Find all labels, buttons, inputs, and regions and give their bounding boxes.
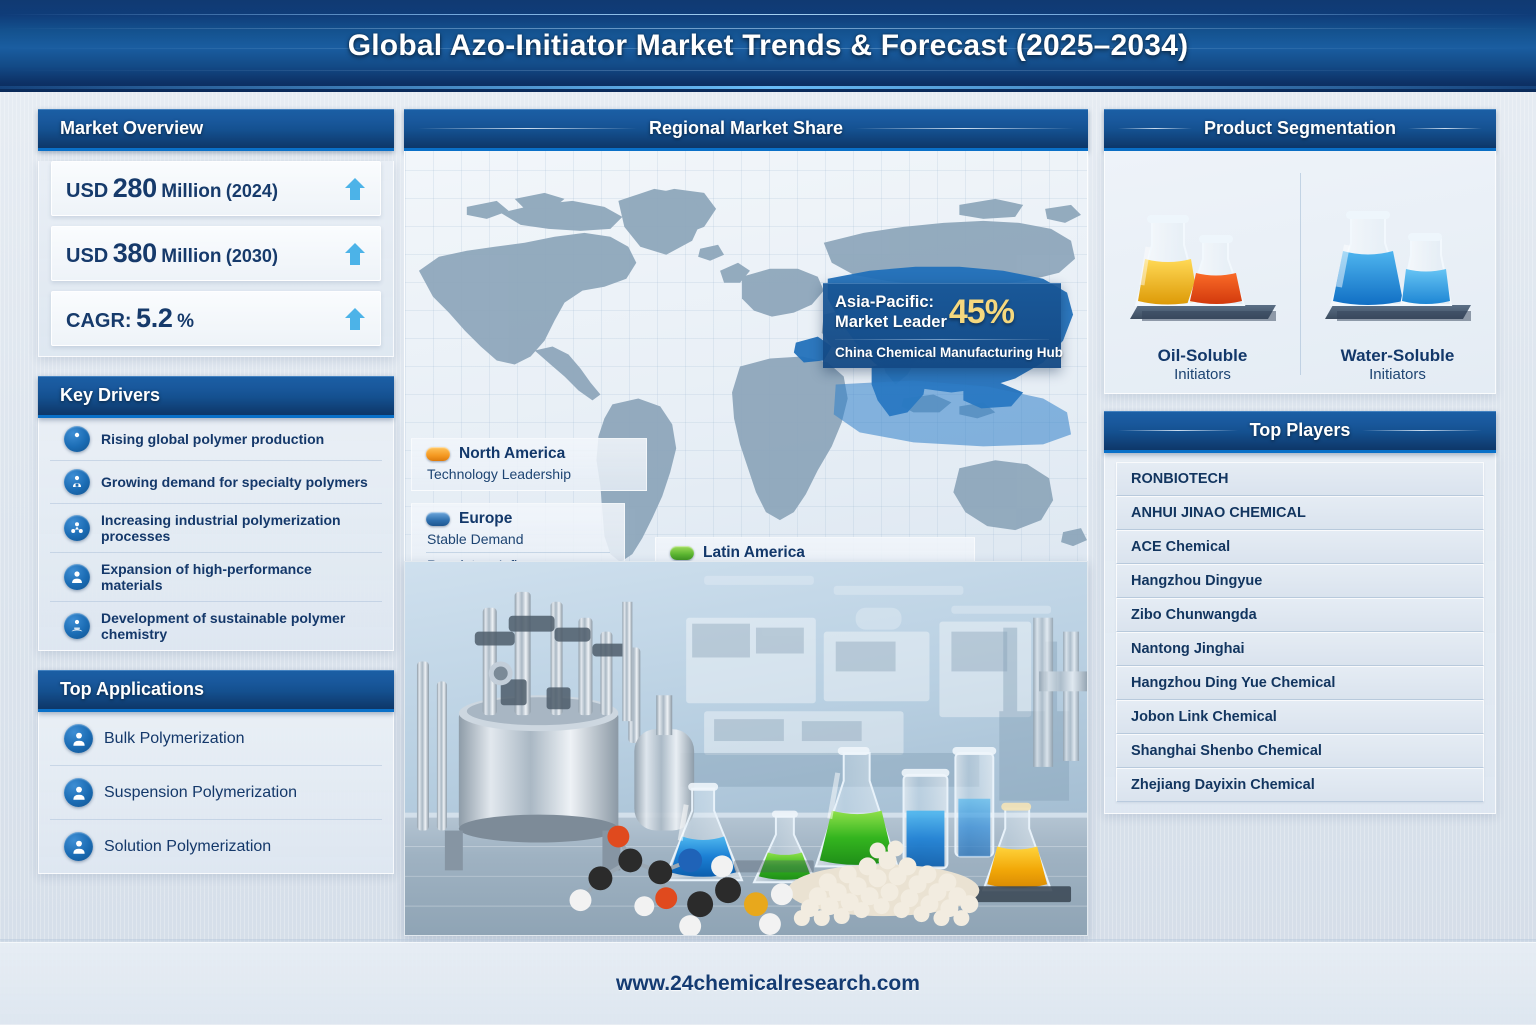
list-item-label: Growing demand for specialty polymers bbox=[101, 474, 368, 490]
panel-header-market-overview: Market Overview bbox=[38, 109, 394, 151]
list-item[interactable]: Bulk Polymerization bbox=[50, 712, 382, 766]
list-item[interactable]: Suspension Polymerization bbox=[50, 766, 382, 820]
world-map: Asia-Pacific: Market Leader 45% China Ch… bbox=[404, 151, 1088, 592]
footer-url[interactable]: www.24chemicalresearch.com bbox=[0, 943, 1536, 1025]
right-column: Product Segmentation bbox=[1104, 109, 1496, 814]
list-item-label: Bulk Polymerization bbox=[104, 730, 245, 748]
segment-name: Water-Soluble bbox=[1341, 346, 1455, 366]
asia-pacific-callout: Asia-Pacific: Market Leader 45% China Ch… bbox=[823, 283, 1061, 368]
list-item-label: Suspension Polymerization bbox=[104, 784, 297, 802]
panel-body-top-applications: Bulk Polymerization Suspension Polymeriz… bbox=[38, 712, 394, 874]
list-item[interactable]: Growing demand for specialty polymers bbox=[50, 461, 382, 504]
segment-subtitle: Initiators bbox=[1174, 366, 1231, 383]
list-item-label: Development of sustainable polymer chemi… bbox=[101, 610, 368, 642]
panel-title: Market Overview bbox=[60, 118, 203, 139]
legend-name: Europe bbox=[459, 510, 512, 528]
callout-divider bbox=[835, 339, 1049, 340]
user-icon bbox=[64, 832, 93, 861]
table-row[interactable]: Shanghai Shenbo Chemical bbox=[1116, 734, 1484, 768]
stat-text: USD 280 Million (2024) bbox=[66, 173, 344, 204]
list-item[interactable]: Solution Polymerization bbox=[50, 820, 382, 873]
table-row[interactable]: ACE Chemical bbox=[1116, 530, 1484, 564]
list-item-label: Expansion of high-performance materials bbox=[101, 561, 368, 593]
stat-text: CAGR: 5.2 % bbox=[66, 303, 344, 334]
table-row[interactable]: ANHUI JINAO CHEMICAL bbox=[1116, 496, 1484, 530]
stat-unit: Million bbox=[161, 246, 221, 267]
stat-prefix: USD bbox=[66, 180, 108, 202]
panel-title: Product Segmentation bbox=[1204, 118, 1396, 139]
legend-separator bbox=[426, 552, 610, 553]
panel-regional-market-share: Regional Market Share bbox=[404, 109, 1088, 592]
legend-desc: Stable Demand bbox=[426, 531, 610, 547]
list-item[interactable]: Increasing industrial polymerization pro… bbox=[50, 504, 382, 553]
stat-unit: Million bbox=[161, 181, 221, 202]
legend-head: Latin America bbox=[670, 544, 960, 562]
laboratory-illustration bbox=[405, 562, 1087, 935]
laboratory-photo bbox=[404, 561, 1088, 936]
stat-value: 5.2 bbox=[136, 303, 173, 333]
panel-title: Key Drivers bbox=[60, 385, 160, 406]
panel-body-top-players: RONBIOTECH ANHUI JINAO CHEMICAL ACE Chem… bbox=[1104, 453, 1496, 814]
panel-top-applications: Top Applications Bulk Polymerization Sus… bbox=[38, 670, 394, 874]
stat-value: 280 bbox=[113, 173, 157, 203]
legend-name: Latin America bbox=[703, 544, 805, 562]
flask-person-icon bbox=[64, 469, 90, 495]
user-icon bbox=[64, 724, 93, 753]
callout-line-1: Asia-Pacific: bbox=[835, 293, 947, 312]
segment-water-soluble[interactable]: Water-Soluble Initiators bbox=[1300, 151, 1495, 393]
legend-desc: Technology Leadership bbox=[426, 466, 632, 482]
user-icon bbox=[64, 564, 90, 590]
left-column: Market Overview USD 280 Million (2024) U… bbox=[38, 109, 394, 874]
check-circle-icon bbox=[64, 426, 90, 452]
stat-text: USD 380 Million (2030) bbox=[66, 238, 344, 269]
segment-name: Oil-Soluble bbox=[1158, 346, 1248, 366]
legend-head: North America bbox=[426, 445, 632, 463]
stat-card: USD 380 Million (2030) bbox=[51, 226, 381, 281]
panel-body-key-drivers: Rising global polymer production Growing… bbox=[38, 418, 394, 651]
legend-color-swatch-icon bbox=[426, 512, 450, 526]
user-icon bbox=[64, 778, 93, 807]
header-rule bbox=[1362, 430, 1482, 431]
panel-header-product-segmentation: Product Segmentation bbox=[1104, 109, 1496, 151]
legend-head: Europe bbox=[426, 510, 610, 528]
header-rule bbox=[855, 128, 1074, 129]
recycle-icon bbox=[64, 515, 90, 541]
table-row[interactable]: Nantong Jinghai bbox=[1116, 632, 1484, 666]
table-row[interactable]: Hangzhou Dingyue bbox=[1116, 564, 1484, 598]
segment-oil-soluble[interactable]: Oil-Soluble Initiators bbox=[1105, 151, 1300, 393]
header-rule bbox=[1408, 128, 1482, 129]
legend-color-swatch-icon bbox=[670, 546, 694, 560]
list-item-label: Solution Polymerization bbox=[104, 838, 271, 856]
cylinder-blue bbox=[902, 769, 950, 868]
stat-prefix: USD bbox=[66, 245, 108, 267]
table-row[interactable]: Zhejiang Dayixin Chemical bbox=[1116, 768, 1484, 802]
title-bar: Global Azo-Initiator Market Trends & For… bbox=[0, 0, 1536, 92]
panel-header-regional-market-share: Regional Market Share bbox=[404, 109, 1088, 151]
arrow-up-icon bbox=[344, 177, 366, 201]
segment-subtitle: Initiators bbox=[1369, 366, 1426, 383]
legend-color-swatch-icon bbox=[426, 447, 450, 461]
legend-item-north-america[interactable]: North America Technology Leadership bbox=[411, 438, 647, 491]
panel-top-players: Top Players RONBIOTECH ANHUI JINAO CHEMI… bbox=[1104, 411, 1496, 814]
arrow-up-icon bbox=[344, 242, 366, 266]
panel-header-key-drivers: Key Drivers bbox=[38, 376, 394, 418]
stat-year: (2030) bbox=[226, 246, 278, 266]
panel-title: Top Applications bbox=[60, 679, 204, 700]
table-row[interactable]: RONBIOTECH bbox=[1116, 462, 1484, 496]
panel-body-product-segmentation: Oil-Soluble Initiators bbox=[1104, 151, 1496, 394]
table-row[interactable]: Zibo Chunwangda bbox=[1116, 598, 1484, 632]
callout-line-2: Market Leader bbox=[835, 313, 947, 332]
legend-name: North America bbox=[459, 445, 565, 463]
panel-title: Regional Market Share bbox=[649, 118, 843, 139]
cylinder-blue-back bbox=[952, 747, 996, 856]
callout-lines: Asia-Pacific: Market Leader bbox=[835, 293, 947, 332]
arrow-up-icon bbox=[344, 307, 366, 331]
callout-percent: 45% bbox=[949, 293, 1014, 332]
panel-title: Top Players bbox=[1250, 420, 1351, 441]
table-row[interactable]: Jobon Link Chemical bbox=[1116, 700, 1484, 734]
page-title: Global Azo-Initiator Market Trends & For… bbox=[0, 0, 1536, 92]
callout-main-row: Asia-Pacific: Market Leader 45% bbox=[835, 293, 1049, 332]
list-item-label: Increasing industrial polymerization pro… bbox=[101, 512, 368, 544]
stat-card: USD 280 Million (2024) bbox=[51, 161, 381, 216]
list-item[interactable]: Development of sustainable polymer chemi… bbox=[50, 602, 382, 650]
stat-card: CAGR: 5.2 % bbox=[51, 291, 381, 346]
stat-unit: % bbox=[177, 311, 194, 332]
stat-prefix: CAGR: bbox=[66, 310, 132, 332]
header-rule bbox=[1118, 128, 1192, 129]
panel-market-overview: Market Overview USD 280 Million (2024) U… bbox=[38, 109, 394, 357]
panel-key-drivers: Key Drivers Rising global polymer produc… bbox=[38, 376, 394, 651]
stat-year: (2024) bbox=[226, 181, 278, 201]
flask-pair-icon bbox=[1313, 193, 1483, 343]
book-person-icon bbox=[64, 613, 90, 639]
list-item[interactable]: Expansion of high-performance materials bbox=[50, 553, 382, 602]
flask-pair-icon bbox=[1118, 193, 1288, 343]
panel-header-top-applications: Top Applications bbox=[38, 670, 394, 712]
header-rule bbox=[418, 128, 637, 129]
footer: www.24chemicalresearch.com bbox=[0, 942, 1536, 1024]
panel-header-top-players: Top Players bbox=[1104, 411, 1496, 453]
panel-body-market-overview: USD 280 Million (2024) USD 380 Million (… bbox=[38, 161, 394, 357]
header-rule bbox=[1118, 430, 1238, 431]
list-item-label: Rising global polymer production bbox=[101, 431, 324, 447]
table-row[interactable]: Hangzhou Ding Yue Chemical bbox=[1116, 666, 1484, 700]
callout-subtitle: China Chemical Manufacturing Hub bbox=[835, 345, 1049, 360]
panel-product-segmentation: Product Segmentation bbox=[1104, 109, 1496, 394]
list-item[interactable]: Rising global polymer production bbox=[50, 418, 382, 461]
stat-value: 380 bbox=[113, 238, 157, 268]
